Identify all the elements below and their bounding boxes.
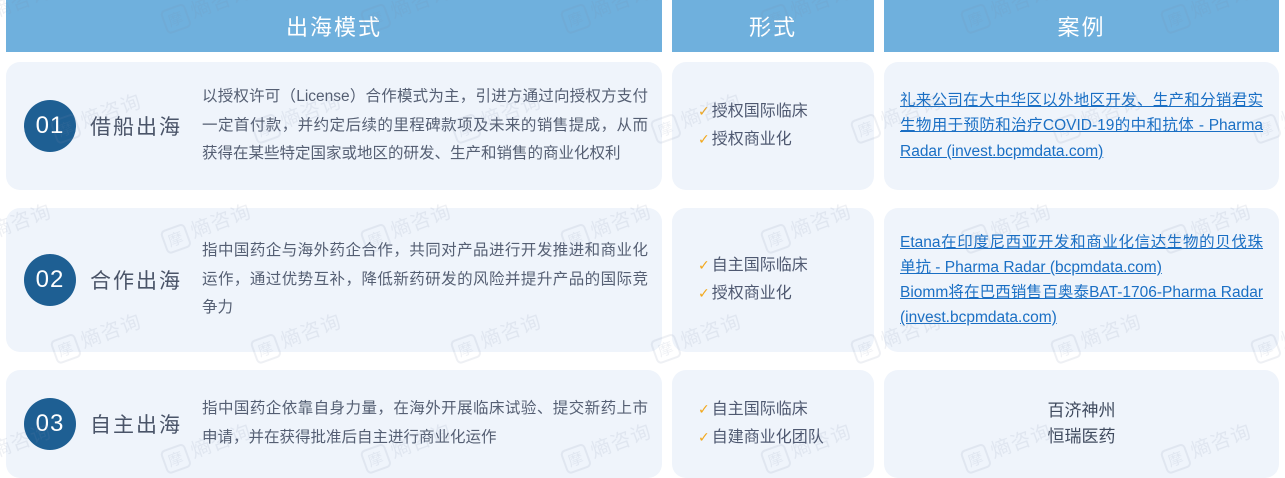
row-number-badge: 01 xyxy=(24,100,76,152)
form-item: ✓自主国际临床 xyxy=(698,396,874,424)
form-item-label: 自主国际临床 xyxy=(712,257,808,274)
column-header-case: 案例 xyxy=(884,0,1279,52)
check-icon: ✓ xyxy=(698,131,710,147)
mode-description: 指中国药企与海外药企合作，共同对产品进行开发推进和商业化运作，通过优势互补，降低… xyxy=(196,237,648,323)
form-cell: ✓自主国际临床 ✓授权商业化 xyxy=(672,208,874,352)
form-item-label: 自建商业化团队 xyxy=(712,429,824,446)
column-header-mode: 出海模式 xyxy=(6,0,662,52)
column-header-case-label: 案例 xyxy=(1057,10,1105,42)
column-header-form-label: 形式 xyxy=(749,10,797,42)
form-cell: ✓自主国际临床 ✓自建商业化团队 xyxy=(672,370,874,478)
mode-description: 指中国药企依靠自身力量，在海外开展临床试验、提交新药上市申请，并在获得批准后自主… xyxy=(196,395,648,452)
form-item-label: 授权商业化 xyxy=(712,285,792,302)
case-link[interactable]: Biomm将在巴西销售百奥泰BAT-1706-Pharma Radar (inv… xyxy=(900,280,1263,330)
mode-description: 以授权许可（License）合作模式为主，引进方通过向授权方支付一定首付款，并约… xyxy=(196,83,648,169)
column-header-mode-label: 出海模式 xyxy=(286,10,382,42)
check-icon: ✓ xyxy=(698,257,710,273)
form-item-label: 授权商业化 xyxy=(712,131,792,148)
table-row: 02 合作出海 指中国药企与海外药企合作，共同对产品进行开发推进和商业化运作，通… xyxy=(6,208,662,352)
mode-title: 合作出海 xyxy=(76,265,196,295)
form-item: ✓自主国际临床 xyxy=(698,252,874,280)
table-row: 03 自主出海 指中国药企依靠自身力量，在海外开展临床试验、提交新药上市申请，并… xyxy=(6,370,662,478)
case-text: 百济神州 xyxy=(900,398,1263,424)
check-icon: ✓ xyxy=(698,103,710,119)
form-item: ✓授权国际临床 xyxy=(698,98,874,126)
form-item: ✓自建商业化团队 xyxy=(698,424,874,452)
row-spacer xyxy=(0,190,1285,208)
case-cell: 礼来公司在大中华区以外地区开发、生产和分销君实生物用于预防和治疗COVID-19… xyxy=(884,62,1279,190)
case-link[interactable]: Etana在印度尼西亚开发和商业化信达生物的贝伐珠单抗 - Pharma Rad… xyxy=(900,230,1263,280)
mode-title: 自主出海 xyxy=(76,409,196,439)
case-cell: 百济神州 恒瑞医药 xyxy=(884,370,1279,478)
row-spacer xyxy=(0,52,1285,62)
form-item: ✓授权商业化 xyxy=(698,280,874,308)
form-item: ✓授权商业化 xyxy=(698,126,874,154)
column-header-form: 形式 xyxy=(672,0,874,52)
row-number-badge: 02 xyxy=(24,254,76,306)
case-cell: Etana在印度尼西亚开发和商业化信达生物的贝伐珠单抗 - Pharma Rad… xyxy=(884,208,1279,352)
case-text: 恒瑞医药 xyxy=(900,424,1263,450)
row-spacer xyxy=(0,352,1285,370)
check-icon: ✓ xyxy=(698,429,710,445)
case-link[interactable]: 礼来公司在大中华区以外地区开发、生产和分销君实生物用于预防和治疗COVID-19… xyxy=(900,88,1263,163)
form-item-label: 授权国际临床 xyxy=(712,103,808,120)
mode-title: 借船出海 xyxy=(76,111,196,141)
form-cell: ✓授权国际临床 ✓授权商业化 xyxy=(672,62,874,190)
comparison-table: 出海模式 形式 案例 01 借船出海 以授权许可（License）合作模式为主，… xyxy=(0,0,1285,478)
check-icon: ✓ xyxy=(698,285,710,301)
form-item-label: 自主国际临床 xyxy=(712,401,808,418)
row-number-badge: 03 xyxy=(24,398,76,450)
check-icon: ✓ xyxy=(698,401,710,417)
table-row: 01 借船出海 以授权许可（License）合作模式为主，引进方通过向授权方支付… xyxy=(6,62,662,190)
